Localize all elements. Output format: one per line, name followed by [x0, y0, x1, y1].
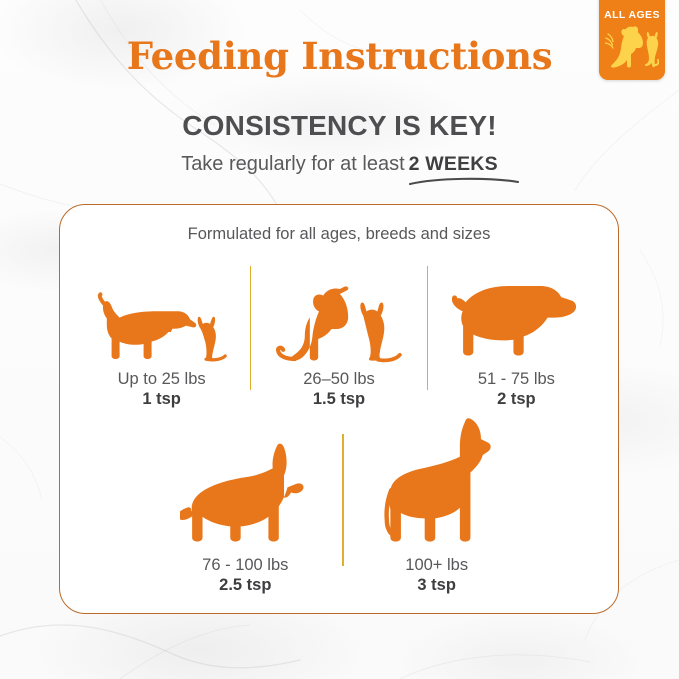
- dosage-amount-label: 1.5 tsp: [313, 390, 365, 410]
- dosage-amount-label: 2 tsp: [497, 390, 536, 410]
- dosage-row-2: 76 - 100 lbs 2.5 tsp 100+ lbs 3 tsp: [60, 418, 618, 596]
- dosage-cell-26-50-lbs: 26–50 lbs 1.5 tsp: [253, 258, 425, 410]
- tagline-container: Take regularly for at least2 WEEKS: [0, 153, 679, 176]
- dosage-weight-label: Up to 25 lbs: [118, 370, 206, 388]
- tagline-emphasis-wrapper: 2 WEEKS: [405, 153, 498, 175]
- dosage-row-1: Up to 25 lbs 1 tsp: [60, 258, 618, 410]
- dosage-amount-label: 3 tsp: [417, 576, 456, 596]
- card-header: Formulated for all ages, breeds and size…: [60, 225, 618, 244]
- tagline-prefix: Take regularly for at least: [181, 153, 404, 175]
- dosage-cell-up-to-25-lbs: Up to 25 lbs 1 tsp: [76, 258, 248, 410]
- page-subtitle: CONSISTENCY IS KEY!: [0, 110, 679, 142]
- great-dane-dog-icon: [350, 418, 524, 550]
- cell-divider: [427, 266, 428, 390]
- standing-dog-and-sitting-cat-icon: [76, 258, 248, 364]
- tagline: Take regularly for at least2 WEEKS: [181, 153, 498, 176]
- cell-divider: [250, 266, 251, 390]
- hand-drawn-underline: [408, 175, 520, 187]
- dosage-weight-label: 100+ lbs: [405, 556, 468, 574]
- feeding-instructions-infographic: ALL AGES Feeding Instructions CONSISTENC…: [0, 0, 679, 679]
- dosage-cell-100-plus-lbs: 100+ lbs 3 tsp: [350, 418, 524, 596]
- dosage-cell-76-100-lbs: 76 - 100 lbs 2.5 tsp: [154, 418, 336, 596]
- tagline-emphasis: 2 WEEKS: [409, 153, 498, 175]
- dosage-weight-label: 51 - 75 lbs: [478, 370, 555, 388]
- dosage-cell-51-75-lbs: 51 - 75 lbs 2 tsp: [430, 258, 602, 410]
- all-ages-badge-label: ALL AGES: [604, 9, 660, 21]
- dosage-card: Formulated for all ages, breeds and size…: [59, 204, 619, 614]
- dosage-amount-label: 1 tsp: [142, 390, 181, 410]
- dosage-weight-label: 26–50 lbs: [303, 370, 375, 388]
- dosage-amount-label: 2.5 tsp: [219, 576, 271, 596]
- dosage-weight-label: 76 - 100 lbs: [202, 556, 288, 574]
- cell-divider: [342, 434, 343, 566]
- sitting-dog-and-sitting-cat-icon: [253, 258, 425, 364]
- labrador-dog-icon: [430, 258, 602, 364]
- page-title: Feeding Instructions: [0, 38, 679, 75]
- german-shepherd-dog-icon: [154, 418, 336, 550]
